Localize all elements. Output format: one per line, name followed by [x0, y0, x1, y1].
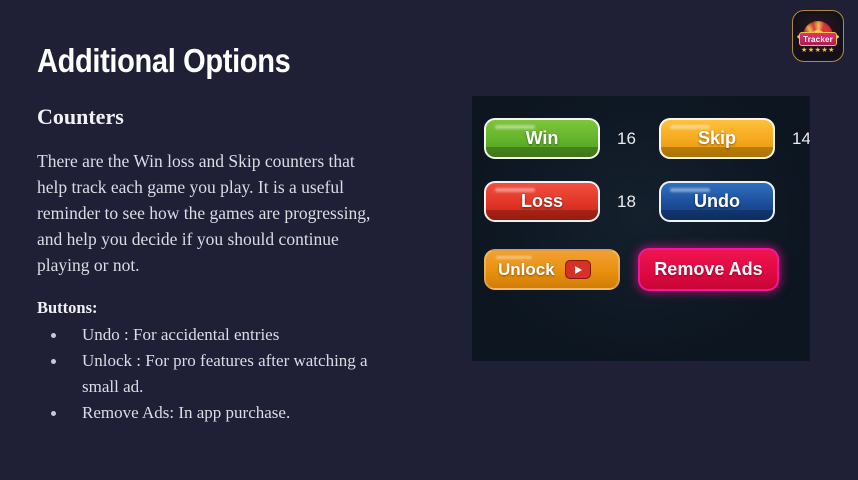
page-title: Additional Options	[37, 44, 389, 79]
play-icon	[565, 260, 591, 279]
skip-counter-value: 14	[792, 129, 810, 149]
app-screenshot-panel: Win 16 Skip 14 Loss 18 Undo	[472, 96, 810, 361]
loss-counter-value: 18	[617, 192, 643, 212]
win-button[interactable]: Win	[484, 118, 600, 159]
action-row-unlock-remove-ads: Unlock Remove Ads	[484, 248, 796, 291]
counter-row-win-skip: Win 16 Skip 14	[484, 118, 796, 159]
remove-ads-button[interactable]: Remove Ads	[638, 248, 779, 291]
remove-ads-button-label: Remove Ads	[654, 259, 762, 280]
buttons-bullet-list: Undo : For accidental entries Unlock : F…	[37, 322, 407, 426]
win-counter-value: 16	[617, 129, 643, 149]
skip-button-label: Skip	[698, 128, 736, 149]
unlock-button-label: Unlock	[498, 260, 555, 280]
left-content-column: Additional Options Counters There are th…	[37, 44, 437, 426]
list-item: Unlock : For pro features after watching…	[37, 348, 407, 400]
list-item: Remove Ads: In app purchase.	[37, 400, 407, 426]
skip-button[interactable]: Skip	[659, 118, 775, 159]
body-paragraph: There are the Win loss and Skip counters…	[37, 148, 387, 278]
loss-button[interactable]: Loss	[484, 181, 600, 222]
play-icon-triangle	[575, 266, 582, 274]
unlock-button[interactable]: Unlock	[484, 249, 620, 290]
undo-button[interactable]: Undo	[659, 181, 775, 222]
counter-row-loss-undo: Loss 18 Undo	[484, 181, 796, 222]
slide-root: Additional Options Counters There are th…	[0, 0, 858, 480]
app-logo-inner: Tracker ★★★★★	[796, 14, 840, 58]
undo-button-label: Undo	[694, 191, 740, 212]
list-item: Undo : For accidental entries	[37, 322, 407, 348]
loss-button-label: Loss	[521, 191, 563, 212]
section-heading-counters: Counters	[37, 105, 437, 129]
buttons-label: Buttons:	[37, 298, 437, 318]
app-logo: Tracker ★★★★★	[792, 10, 844, 62]
win-button-label: Win	[526, 128, 559, 149]
logo-stars: ★★★★★	[796, 46, 840, 54]
app-button-grid: Win 16 Skip 14 Loss 18 Undo	[472, 96, 810, 361]
logo-banner-text: Tracker	[799, 32, 837, 46]
